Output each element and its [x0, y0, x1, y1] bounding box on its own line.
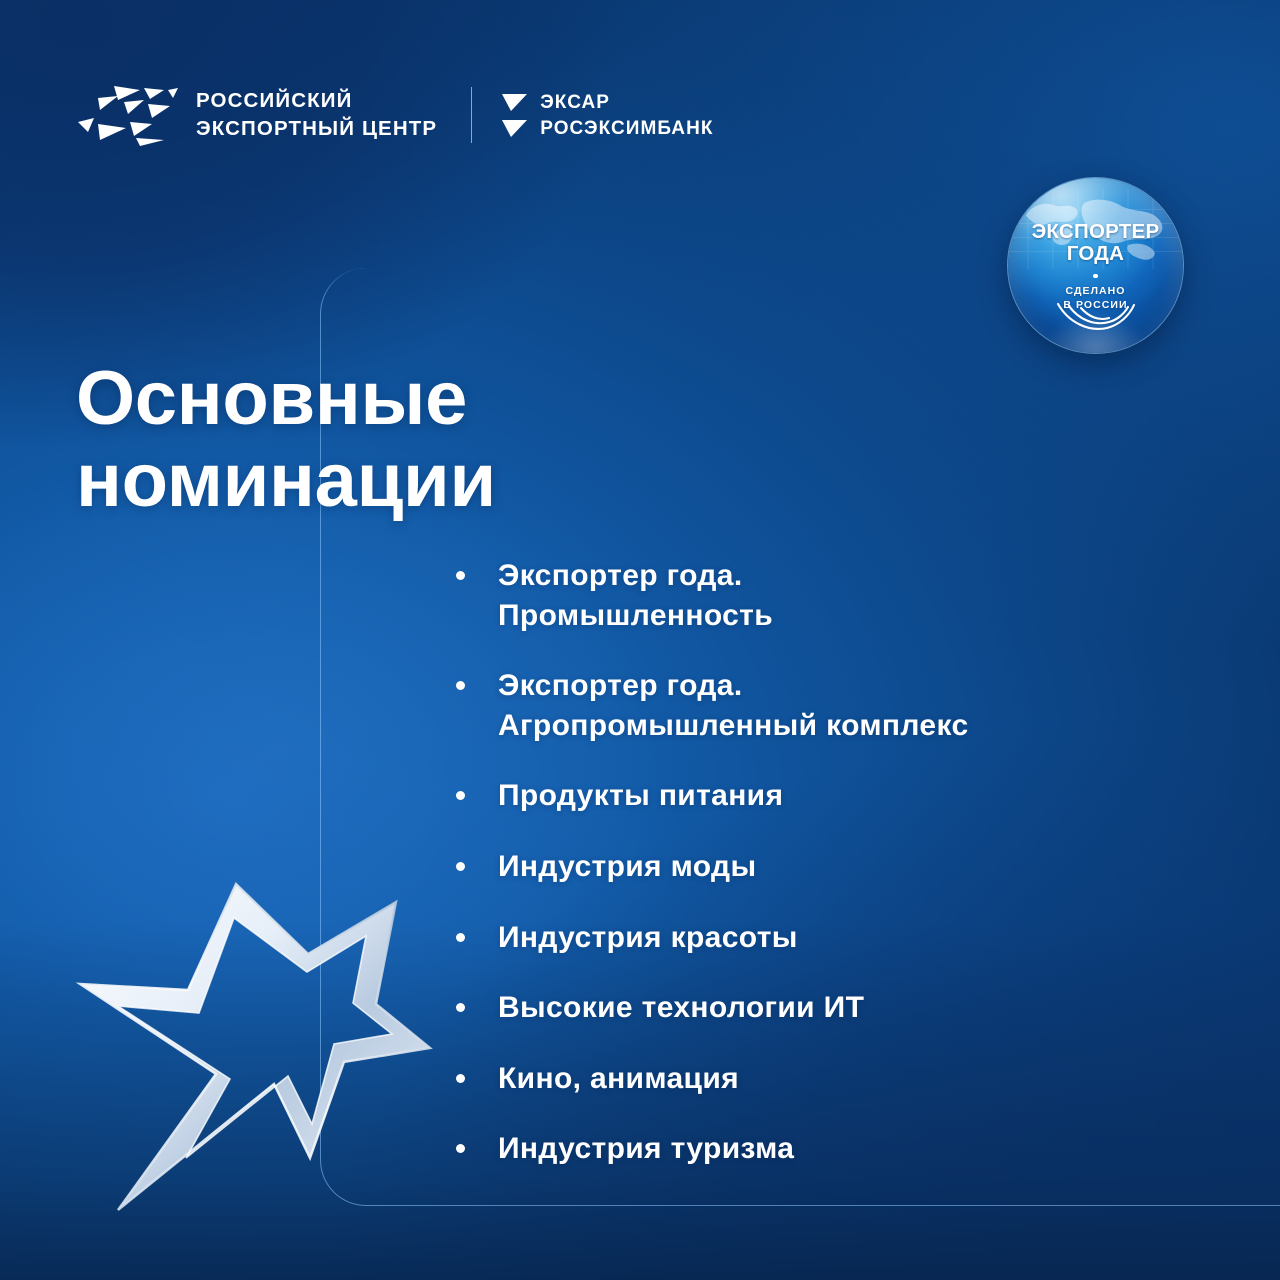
list-item: Экспортер года. Промышленность: [456, 556, 1226, 635]
rec-brand-name: РОССИЙСКИЙ ЭКСПОРТНЫЙ ЦЕНТР: [196, 87, 437, 144]
list-item: Высокие технологии ИТ: [456, 988, 1226, 1028]
list-item: Кино, анимация: [456, 1059, 1226, 1099]
list-item: Индустрия моды: [456, 847, 1226, 887]
nomination-label: Продукты питания: [498, 776, 783, 816]
partner-brand-roseximbank-label: РОСЭКСИМБАНК: [540, 119, 713, 138]
partner-brand-roseximbank: РОСЭКСИМБАНК: [502, 119, 713, 138]
bullet-dot-icon: [456, 791, 465, 800]
bullet-dot-icon: [456, 933, 465, 942]
badge-line-2: ГОДА: [1008, 243, 1183, 265]
badge-separator-dot: [1093, 274, 1098, 279]
rec-shards-logo-icon: [78, 84, 182, 146]
list-item: Индустрия туризма: [456, 1129, 1226, 1169]
poster-canvas: РОССИЙСКИЙ ЭКСПОРТНЫЙ ЦЕНТР ЭКСАР РОСЭКС…: [0, 0, 1280, 1280]
list-item: Экспортер года. Агропромышленный комплек…: [456, 666, 1226, 745]
bird-wing-icon: [1055, 299, 1137, 335]
rec-brand-line-1: РОССИЙСКИЙ: [196, 87, 437, 115]
bullet-dot-icon: [456, 571, 465, 580]
globe-badge-icon: ЭКСПОРТЕР ГОДА СДЕЛАНО В РОССИИ: [1008, 178, 1183, 353]
badge-line-1: ЭКСПОРТЕР: [1008, 222, 1183, 243]
bullet-dot-icon: [456, 1074, 465, 1083]
bullet-dot-icon: [456, 1144, 465, 1153]
nomination-label: Высокие технологии ИТ: [498, 988, 864, 1028]
partner-brand-exiar-label: ЭКСАР: [540, 93, 610, 112]
triangle-down-icon: [502, 94, 527, 111]
partner-brand-exiar: ЭКСАР: [502, 93, 713, 112]
page-title: Основные номинации: [76, 358, 496, 522]
nomination-label: Индустрия туризма: [498, 1129, 794, 1169]
bullet-dot-icon: [456, 862, 465, 871]
nomination-label: Кино, анимация: [498, 1059, 739, 1099]
nomination-label: Индустрия моды: [498, 847, 756, 887]
nomination-label: Экспортер года. Агропромышленный комплек…: [498, 666, 969, 745]
triangle-down-icon: [502, 120, 527, 137]
logo-divider: [471, 87, 472, 143]
bullet-dot-icon: [456, 681, 465, 690]
nomination-label: Индустрия красоты: [498, 918, 798, 958]
nominations-list: Экспортер года. Промышленность Экспортер…: [456, 556, 1226, 1169]
partner-brands: ЭКСАР РОСЭКСИМБАНК: [502, 93, 713, 138]
bullet-dot-icon: [456, 1003, 465, 1012]
nomination-label: Экспортер года. Промышленность: [498, 556, 773, 635]
list-item: Индустрия красоты: [456, 918, 1226, 958]
list-item: Продукты питания: [456, 776, 1226, 816]
badge-line-3: СДЕЛАНО: [1008, 285, 1183, 298]
brand-header: РОССИЙСКИЙ ЭКСПОРТНЫЙ ЦЕНТР ЭКСАР РОСЭКС…: [78, 84, 714, 146]
rec-brand-line-2: ЭКСПОРТНЫЙ ЦЕНТР: [196, 115, 437, 143]
